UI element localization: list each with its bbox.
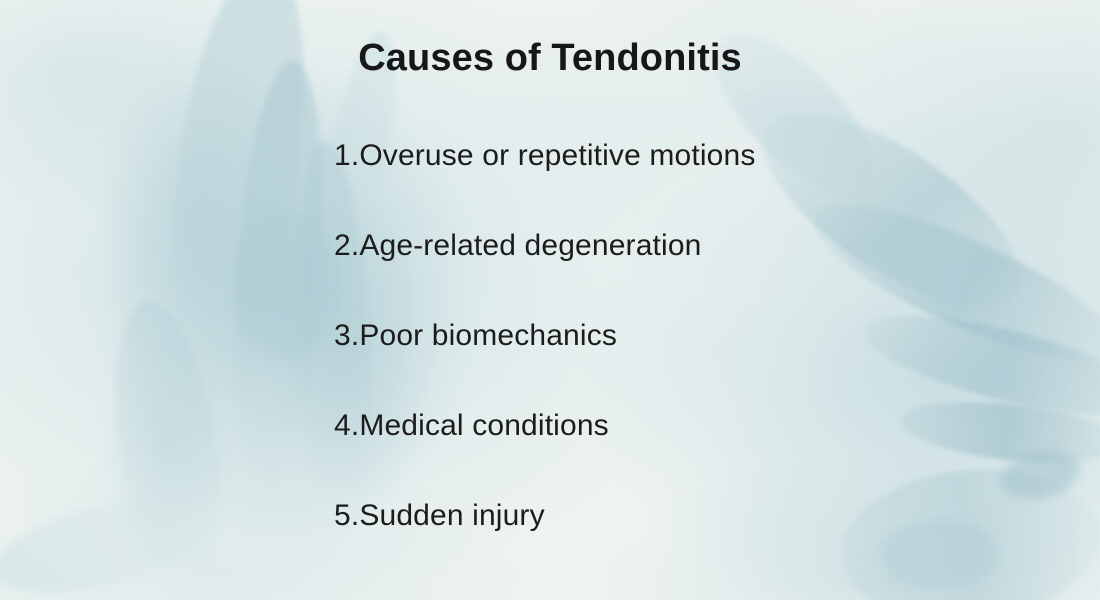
numbered-list: 1.Overuse or repetitive motions 2.Age-re… <box>334 141 1034 531</box>
presentation-slide: Causes of Tendonitis 1.Overuse or repeti… <box>0 0 1100 600</box>
list-item: 2.Age-related degeneration <box>334 231 1034 321</box>
list-item: 4.Medical conditions <box>334 411 1034 501</box>
slide-content: Causes of Tendonitis 1.Overuse or repeti… <box>0 0 1100 600</box>
list-item: 3.Poor biomechanics <box>334 321 1034 411</box>
slide-title: Causes of Tendonitis <box>0 38 1100 80</box>
list-item: 1.Overuse or repetitive motions <box>334 141 1034 231</box>
list-item: 5.Sudden injury <box>334 501 1034 531</box>
